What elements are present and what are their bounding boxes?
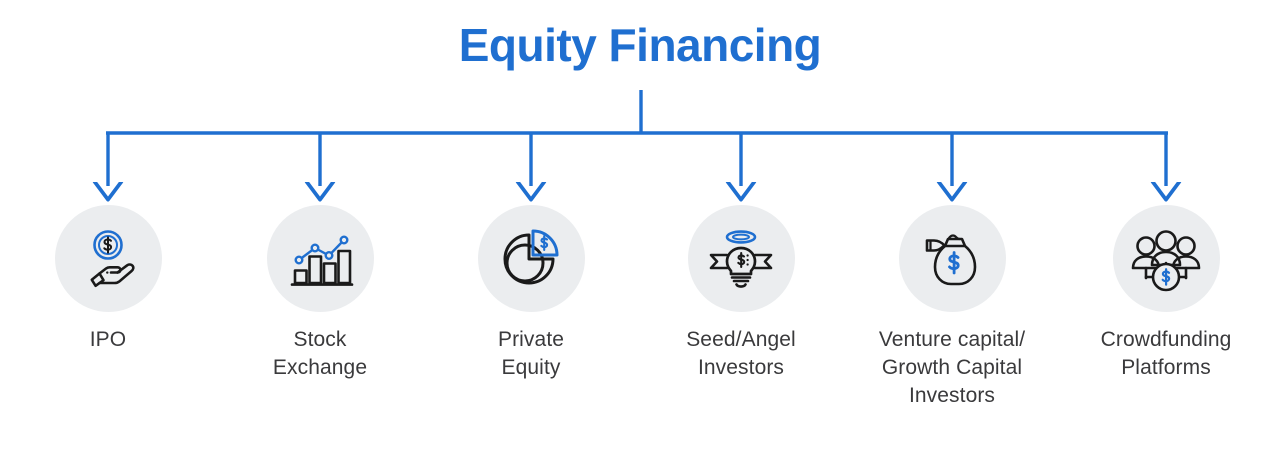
- node-label-line: Investors: [626, 354, 856, 382]
- node-label-private-equity: Private Equity: [416, 326, 646, 382]
- node-ipo[interactable]: IPO: [0, 205, 223, 354]
- icon-circle-venture-capital: [899, 205, 1006, 312]
- node-label-line: Private: [416, 326, 646, 354]
- node-crowdfunding-platforms[interactable]: Crowdfunding Platforms: [1051, 205, 1280, 382]
- node-label-stock-exchange: Stock Exchange: [205, 326, 435, 382]
- node-label-seed-angel: Seed/Angel Investors: [626, 326, 856, 382]
- node-label-line: Equity: [416, 354, 646, 382]
- node-label-line: Seed/Angel: [626, 326, 856, 354]
- hand-holding-dollar-coin-icon: [75, 226, 141, 292]
- node-label-line: Venture capital/: [837, 326, 1067, 354]
- icon-circle-seed-angel: [688, 205, 795, 312]
- group-of-people-dollar-coin-icon: [1131, 226, 1201, 292]
- page-title: Equity Financing: [0, 22, 1280, 68]
- node-label-line: Growth Capital: [837, 354, 1067, 382]
- node-label-crowdfunding: Crowdfunding Platforms: [1051, 326, 1280, 382]
- node-stock-exchange[interactable]: Stock Exchange: [205, 205, 435, 382]
- node-label-line: Investors: [837, 382, 1067, 410]
- hand-holding-money-bag-icon: [921, 226, 983, 292]
- icon-circle-stock-exchange: [267, 205, 374, 312]
- icon-circle-ipo: [55, 205, 162, 312]
- node-label-line: Platforms: [1051, 354, 1280, 382]
- icon-circle-private-equity: [478, 205, 585, 312]
- winged-lightbulb-halo-dollar-icon: [705, 226, 777, 292]
- pie-chart-dollar-slice-icon: [498, 226, 564, 292]
- icon-circle-crowdfunding: [1113, 205, 1220, 312]
- node-label-line: Exchange: [205, 354, 435, 382]
- bar-chart-trend-line-icon: [286, 226, 354, 292]
- node-label-ipo: IPO: [0, 326, 223, 354]
- node-venture-capital[interactable]: Venture capital/ Growth Capital Investor…: [837, 205, 1067, 410]
- node-label-line: Stock: [205, 326, 435, 354]
- equity-financing-diagram: Equity Financing: [0, 0, 1280, 455]
- node-label-line: Crowdfunding: [1051, 326, 1280, 354]
- node-seed-angel-investors[interactable]: Seed/Angel Investors: [626, 205, 856, 382]
- node-label-line: IPO: [0, 326, 223, 354]
- node-label-venture-capital: Venture capital/ Growth Capital Investor…: [837, 326, 1067, 410]
- node-private-equity[interactable]: Private Equity: [416, 205, 646, 382]
